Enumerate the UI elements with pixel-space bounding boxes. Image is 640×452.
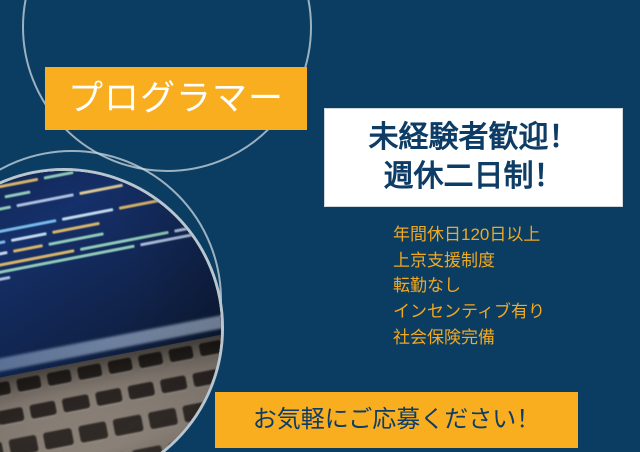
code-lines: [0, 168, 224, 333]
benefits-list: 年間休日120日以上 上京支援制度 転勤なし インセンティブ有り 社会保険完備: [393, 226, 545, 347]
job-ad-poster: プログラマー 未経験者歓迎！ 週休二日制！ 年間休日120日以上 上京支援制度 …: [0, 0, 640, 452]
headline-box: 未経験者歓迎！ 週休二日制！: [324, 108, 623, 207]
cta-label: お気軽にご応募ください！: [253, 408, 541, 432]
list-item: 転勤なし: [393, 277, 545, 296]
cta-banner[interactable]: お気軽にご応募ください！: [215, 392, 578, 448]
job-title-tag: プログラマー: [45, 67, 307, 130]
laptop-photo: [0, 168, 224, 452]
laptop-photo-image: [0, 171, 221, 452]
list-item: インセンティブ有り: [393, 303, 545, 322]
list-item: 社会保険完備: [393, 329, 545, 348]
job-title-label: プログラマー: [68, 81, 284, 116]
headline-line-2: 週休二日制！: [384, 158, 564, 196]
list-item: 年間休日120日以上: [393, 226, 545, 245]
list-item: 上京支援制度: [393, 252, 545, 271]
headline-line-1: 未経験者歓迎！: [369, 119, 579, 157]
